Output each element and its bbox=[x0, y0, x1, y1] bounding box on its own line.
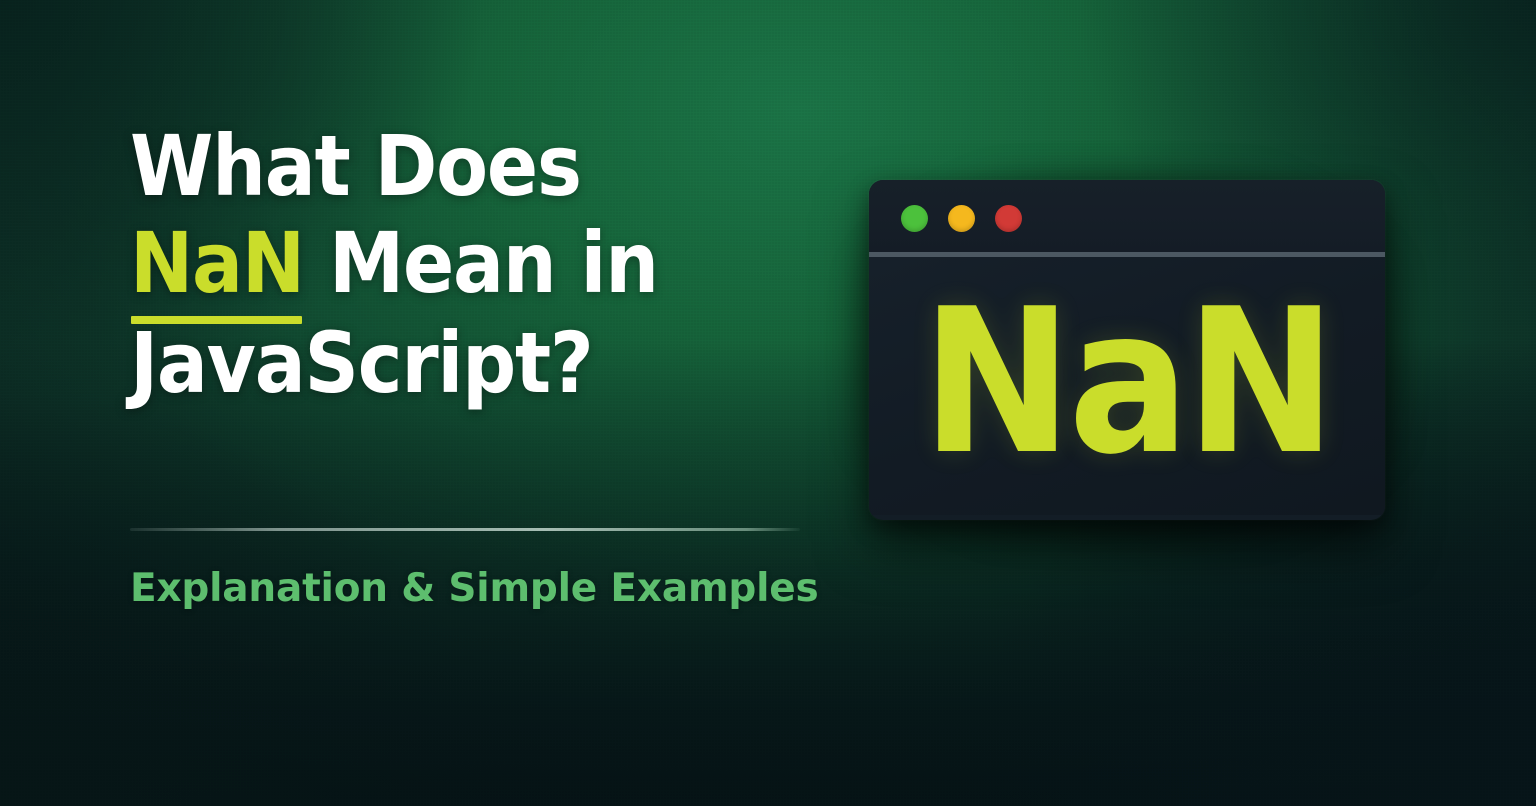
headline-line-2: NaN Mean in bbox=[130, 215, 830, 314]
traffic-light-green-icon[interactable] bbox=[901, 205, 928, 232]
window-content-area: NaN bbox=[869, 257, 1385, 515]
subtitle: Explanation & Simple Examples bbox=[130, 566, 819, 611]
hero-banner: What Does NaN Mean in JavaScript? Explan… bbox=[0, 0, 1536, 806]
traffic-light-red-icon[interactable] bbox=[995, 205, 1022, 232]
window-nan-text: NaN bbox=[922, 283, 1333, 483]
headline-accent-nan: NaN bbox=[130, 215, 304, 314]
hero-text-column: What Does NaN Mean in JavaScript? bbox=[130, 118, 830, 412]
browser-window-mockup: NaN bbox=[869, 180, 1385, 520]
headline-line-3-text: JavaScript? bbox=[130, 314, 593, 412]
page-title: What Does NaN Mean in JavaScript? bbox=[130, 118, 830, 412]
section-divider bbox=[130, 528, 800, 531]
headline-line-2-rest: Mean in bbox=[304, 214, 658, 312]
window-titlebar bbox=[869, 180, 1385, 257]
headline-line-3: JavaScript? bbox=[130, 315, 830, 412]
headline-line-1: What Does bbox=[130, 118, 830, 215]
traffic-light-amber-icon[interactable] bbox=[948, 205, 975, 232]
headline-line-1-text: What Does bbox=[130, 117, 581, 215]
